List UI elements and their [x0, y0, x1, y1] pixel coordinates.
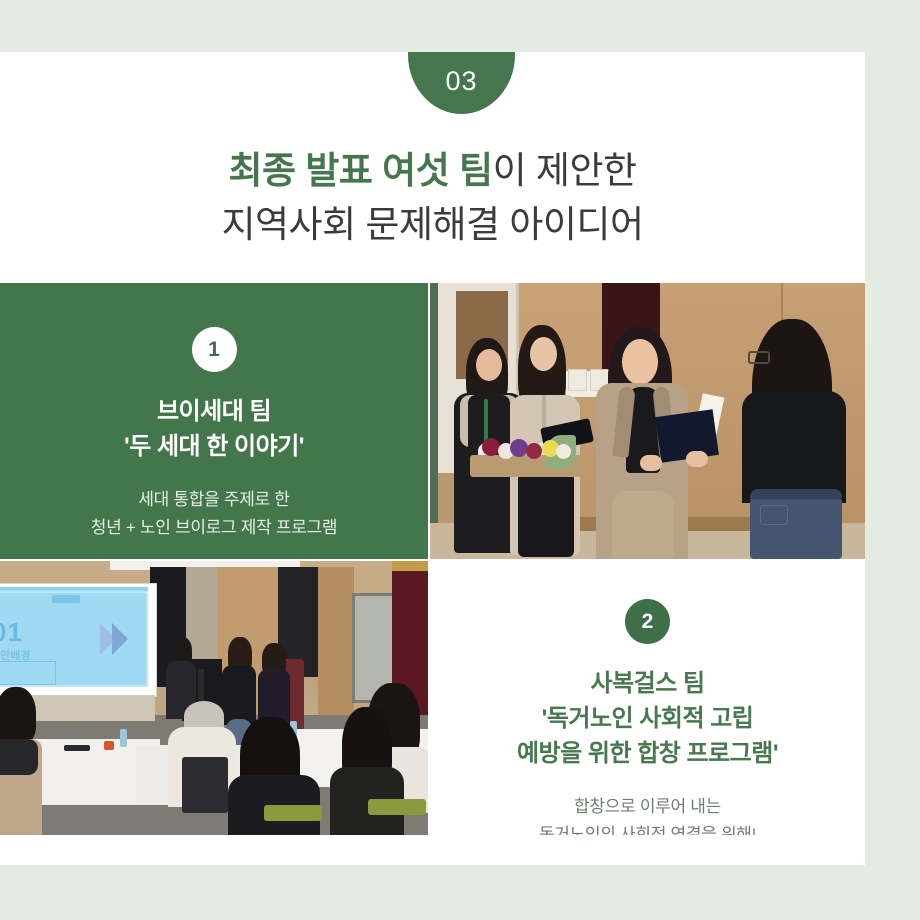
photo-flower — [526, 443, 542, 459]
award-ceremony-photo — [430, 283, 865, 559]
content-card: 03 최종 발표 여섯 팀이 제안한 지역사회 문제해결 아이디어 1 브이세대… — [0, 52, 865, 865]
headline-line-2: 지역사회 문제해결 아이디어 — [0, 198, 865, 252]
photo-person-face — [622, 339, 658, 385]
seminar-slide-tab — [52, 595, 80, 603]
seminar-person-shoulders — [0, 739, 38, 775]
seminar-remote — [64, 745, 90, 751]
team-2-name: 사복걸스 팀 '독거노인 사회적 고립 예방을 위한 합창 프로그램' — [517, 666, 778, 771]
team-1-description: 세대 통합을 주제로 한 청년 + 노인 브이로그 제작 프로그램 — [91, 486, 338, 542]
seminar-table-item — [104, 741, 114, 750]
team-1-name-line-2: '두 세대 한 이야기' — [124, 429, 304, 464]
page-title: 최종 발표 여섯 팀이 제안한 지역사회 문제해결 아이디어 — [0, 144, 865, 252]
team-1-name-line-1: 브이세대 팀 — [124, 394, 304, 429]
team-2-description: 합창으로 이루어 내는 독거노인의 사회적 연결을 위해! — [539, 793, 756, 835]
headline-rest-text: 이 제안한 — [493, 150, 637, 191]
photo-person-glasses — [748, 351, 770, 364]
headline-accent-text: 최종 발표 여섯 팀 — [228, 150, 492, 191]
seminar-water-bottle — [120, 729, 127, 747]
section-number-badge: 03 — [408, 52, 515, 114]
photo-person-waistband — [750, 489, 842, 499]
photo-light-switch-1 — [568, 369, 587, 391]
photo-person-hand — [686, 451, 708, 467]
seminar-chair — [368, 799, 426, 815]
team-1-desc-line-1: 세대 통합을 주제로 한 — [91, 486, 338, 514]
team-1-name: 브이세대 팀 '두 세대 한 이야기' — [124, 394, 304, 464]
photo-person-face — [530, 337, 557, 371]
seminar-slide-textbox — [0, 661, 56, 685]
team-2-panel-cell: 2 사복걸스 팀 '독거노인 사회적 고립 예방을 위한 합창 프로그램' 합창… — [430, 561, 865, 835]
seminar-slide-number: 01 — [0, 617, 23, 648]
seminar-slide-chevron-front — [112, 623, 128, 655]
team-2-name-line-1: 사복걸스 팀 — [517, 666, 778, 701]
photo-person-pocket — [760, 505, 788, 525]
photo-flower — [482, 438, 500, 456]
photo-person-top — [742, 391, 846, 503]
photo-person-hand — [640, 455, 662, 471]
team-2-desc-line-1: 합창으로 이루어 내는 — [539, 793, 756, 821]
seminar-person-hair — [0, 687, 36, 745]
photo-person-face — [476, 349, 502, 381]
poster-page: 03 최종 발표 여섯 팀이 제안한 지역사회 문제해결 아이디어 1 브이세대… — [0, 0, 920, 920]
seminar-chair-back — [182, 757, 228, 813]
photo-person-pants — [518, 473, 574, 557]
team-1-number-badge: 1 — [192, 327, 237, 372]
seminar-room-photo: 01 제안배경 — [0, 561, 428, 835]
photo-person-trousers — [612, 491, 674, 559]
section-number-label: 03 — [445, 66, 477, 97]
team-2-desc-line-2: 독거노인의 사회적 연결을 위해! — [539, 821, 756, 835]
seminar-room-photo-cell: 01 제안배경 — [0, 561, 428, 835]
team-2-name-line-3: 예방을 위한 합창 프로그램' — [517, 736, 778, 771]
seminar-person-body — [222, 665, 256, 725]
seminar-chair — [264, 805, 322, 821]
team-1-number-label: 1 — [208, 338, 220, 362]
team-2-number-label: 2 — [642, 610, 654, 634]
headline-line-1: 최종 발표 여섯 팀이 제안한 — [0, 144, 865, 198]
team-1-panel: 1 브이세대 팀 '두 세대 한 이야기' 세대 통합을 주제로 한 청년 + … — [0, 283, 428, 559]
team-2-number-badge: 2 — [625, 599, 670, 644]
team-2-name-line-2: '독거노인 사회적 고립 — [517, 701, 778, 736]
teams-grid: 1 브이세대 팀 '두 세대 한 이야기' 세대 통합을 주제로 한 청년 + … — [0, 283, 865, 835]
photo-wall-edge — [430, 283, 438, 559]
award-ceremony-photo-cell — [430, 283, 865, 559]
team-1-desc-line-2: 청년 + 노인 브이로그 제작 프로그램 — [91, 514, 338, 542]
team-1-panel-cell: 1 브이세대 팀 '두 세대 한 이야기' 세대 통합을 주제로 한 청년 + … — [0, 283, 428, 559]
photo-flower — [556, 444, 571, 459]
seminar-curtain-trim — [392, 561, 428, 571]
team-2-panel: 2 사복걸스 팀 '독거노인 사회적 고립 예방을 위한 합창 프로그램' 합창… — [430, 561, 865, 835]
